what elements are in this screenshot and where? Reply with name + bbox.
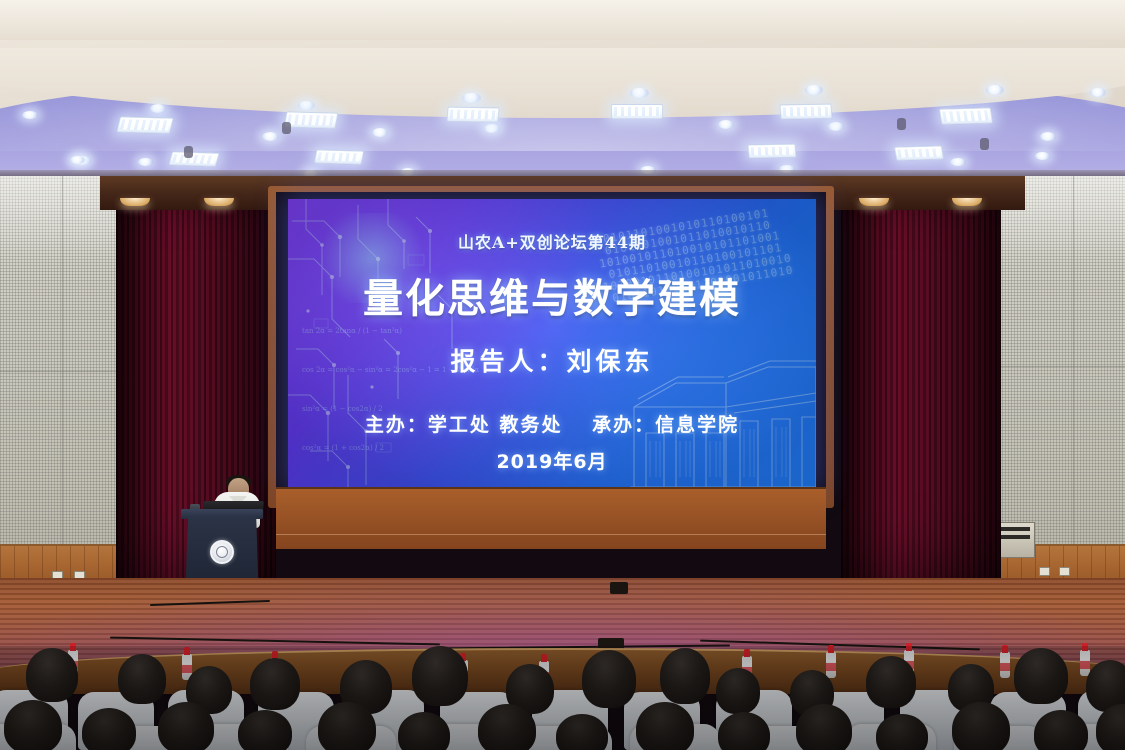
audience-member	[478, 704, 536, 750]
lecture-hall-photo: 10101101001010110100101 0101101001011010…	[0, 0, 1125, 750]
audience-member	[26, 648, 78, 702]
wall-outlet	[1059, 567, 1070, 576]
ceiling-panel-light	[894, 145, 944, 160]
audience-member	[1034, 710, 1088, 750]
audience-member	[1014, 648, 1068, 704]
recessed-downlight	[828, 122, 844, 131]
ceiling-speaker	[897, 118, 906, 130]
acoustic-wall-panel-right	[993, 176, 1125, 596]
slide-date: 2019年6月	[288, 447, 816, 474]
ceiling-panel-light	[611, 104, 663, 119]
audience-member	[4, 700, 62, 750]
ceiling-panel-light	[446, 107, 499, 123]
screen-base-wood-panel	[276, 487, 826, 549]
slide-speaker: 报告人：刘保东	[288, 342, 816, 378]
stage-floor-box	[610, 582, 628, 594]
slide-kicker: 山农A+双创论坛第44期	[288, 229, 816, 253]
stage-downlight	[120, 198, 150, 206]
audience-member	[636, 702, 694, 750]
ceiling-panel-light	[284, 111, 339, 128]
wall-control-box[interactable]	[995, 522, 1035, 558]
stage-downlight	[952, 198, 982, 206]
slide-organizers: 主办：学工处 教务处 承办：信息学院	[288, 410, 816, 437]
audience-area	[0, 646, 1125, 750]
audience-member	[866, 656, 916, 708]
panel-seam	[993, 366, 1125, 367]
recessed-downlight	[484, 124, 500, 133]
recessed-downlight	[718, 120, 734, 129]
stage-downlight	[859, 198, 889, 206]
audience-member	[876, 714, 928, 750]
stage-downlight	[204, 198, 234, 206]
slide-text-block: 山农A+双创论坛第44期 量化思维与数学建模 报告人：刘保东 主办：学工处 教务…	[288, 199, 816, 487]
audience-member	[660, 648, 710, 704]
audience-member	[556, 714, 608, 750]
ceiling-panel-light	[747, 144, 796, 159]
recessed-downlight	[138, 158, 153, 166]
recessed-downlight	[298, 101, 315, 110]
audience-member	[952, 702, 1010, 750]
ceiling-speaker	[980, 138, 989, 150]
panel-seam	[0, 371, 122, 372]
panel-seam	[1073, 176, 1074, 544]
audience-member	[412, 646, 468, 706]
stage-curtain-right	[841, 176, 1001, 604]
audience-member	[118, 654, 166, 704]
ceiling-speaker	[282, 122, 291, 134]
audience-member	[398, 712, 450, 750]
ceiling-panel-light	[780, 104, 833, 120]
recessed-downlight	[1040, 132, 1056, 141]
recessed-downlight	[805, 85, 823, 95]
slide-title: 量化思维与数学建模	[288, 266, 816, 324]
ceiling-panel-light	[168, 151, 220, 167]
recessed-downlight	[262, 132, 279, 141]
recessed-downlight	[1035, 152, 1050, 160]
recessed-downlight	[462, 93, 481, 103]
audience-member	[238, 710, 292, 750]
led-presentation-screen[interactable]: 10101101001010110100101 0101101001011010…	[288, 199, 816, 487]
audience-member	[582, 650, 636, 708]
audience-member	[158, 702, 214, 750]
recessed-downlight	[986, 85, 1004, 95]
acoustic-wall-panel-left	[0, 176, 122, 596]
audience-member	[716, 668, 760, 714]
audience-member	[82, 708, 136, 750]
audience-member	[250, 658, 300, 710]
ceiling-panel-light	[314, 149, 364, 164]
recessed-downlight	[22, 111, 38, 119]
audience-member	[718, 712, 770, 750]
audience-member	[796, 704, 852, 750]
recessed-downlight	[150, 104, 166, 113]
recessed-downlight	[70, 156, 85, 164]
audience-member	[318, 702, 376, 750]
university-crest-icon	[210, 540, 234, 564]
recessed-downlight	[630, 88, 649, 98]
recessed-downlight	[950, 158, 966, 166]
wall-outlet	[1039, 567, 1050, 576]
recessed-downlight	[372, 128, 388, 137]
panel-seam	[62, 176, 63, 544]
recessed-downlight	[1090, 88, 1106, 97]
ceiling-panel-light	[939, 107, 993, 124]
ceiling-speaker	[184, 146, 193, 158]
ceiling-panel-light	[116, 116, 174, 133]
